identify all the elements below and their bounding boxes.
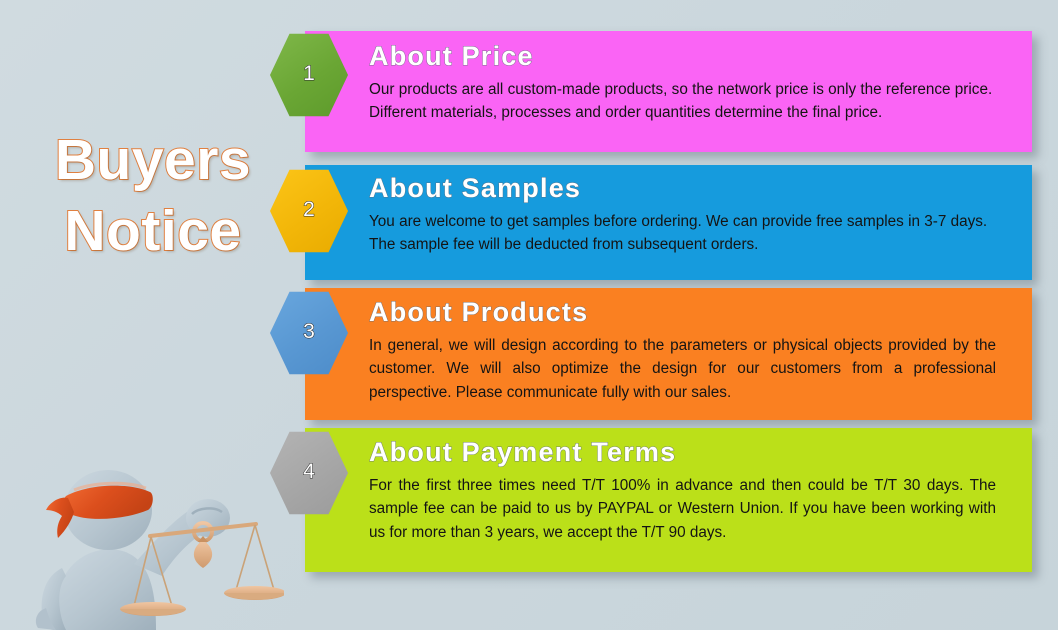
page-title: Buyers Notice: [28, 125, 278, 266]
panel-3-body: In general, we will design according to …: [305, 334, 1032, 416]
panel-1-number: 1: [303, 62, 315, 86]
panel-4-heading: About Payment Terms: [305, 428, 1032, 474]
panel-1-heading: About Price: [305, 31, 1032, 78]
panel-1-body: Our products are all custom-made product…: [305, 78, 1032, 137]
panel-3-number: 3: [303, 320, 315, 344]
panel-about-price: About Price Our products are all custom-…: [305, 31, 1032, 152]
page-title-line-1: Buyers: [28, 125, 278, 196]
page-title-line-2: Notice: [28, 196, 278, 267]
infographic-canvas: Buyers Notice: [0, 0, 1058, 630]
panel-2-body: You are welcome to get samples before or…: [305, 210, 1032, 269]
panel-2-number: 2: [303, 198, 315, 222]
panel-2-heading: About Samples: [305, 165, 1032, 210]
panel-about-samples: About Samples You are welcome to get sam…: [305, 165, 1032, 280]
panel-4-number: 4: [303, 460, 315, 484]
panel-3-heading: About Products: [305, 288, 1032, 334]
panel-about-payment-terms: About Payment Terms For the first three …: [305, 428, 1032, 572]
blindfolded-justice-figure-icon: [22, 418, 284, 630]
panel-about-products: About Products In general, we will desig…: [305, 288, 1032, 420]
panel-4-body: For the first three times need T/T 100% …: [305, 474, 1032, 556]
